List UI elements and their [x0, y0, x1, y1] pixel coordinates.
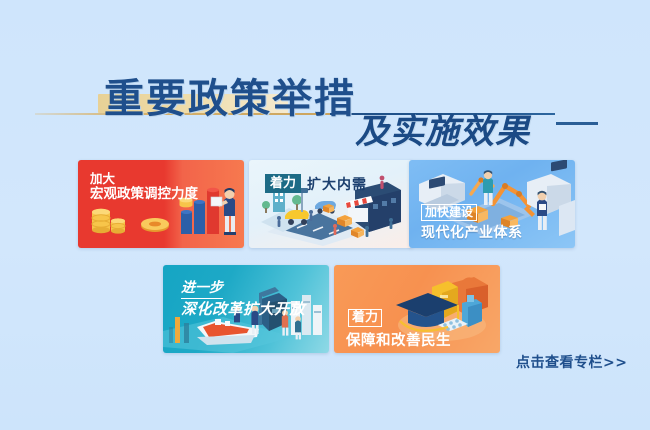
page-title: 重要政策举措 及实施效果 [0, 58, 650, 148]
card1-caption-line2: 宏观政策调控力度 [90, 186, 198, 202]
title-dash-right [556, 122, 598, 125]
card2-caption-rest: 扩大内需 [307, 174, 367, 194]
card5-caption-line2: 保障和改善民生 [346, 329, 451, 350]
card4-caption-line1: 进一步 [181, 277, 223, 299]
card3-caption-line2: 现代化产业体系 [421, 222, 523, 242]
card-modern-industry[interactable]: 加快建设 现代化产业体系 [409, 160, 575, 248]
title-line-1: 重要政策举措 [104, 66, 356, 124]
card-macro-policy[interactable]: 加大 宏观政策调控力度 [78, 160, 244, 248]
banner-root: 重要政策举措 及实施效果 [0, 0, 650, 430]
card2-caption-tag: 着力 [265, 174, 301, 193]
card1-caption: 加大 宏观政策调控力度 [90, 172, 198, 203]
card4-caption-line2: 深化改革扩大开放 [181, 298, 305, 319]
card3-caption-line1: 加快建设 [421, 204, 477, 221]
card-expand-demand[interactable]: 着力 扩大内需 [249, 160, 413, 248]
card-reform-opening[interactable]: 进一步 深化改革扩大开放 [163, 265, 329, 353]
card5-caption-tag: 着力 [348, 309, 382, 327]
card-livelihood[interactable]: 着力 保障和改善民生 [334, 265, 500, 353]
view-column-link[interactable]: 点击查看专栏>> [516, 352, 627, 372]
title-line-2: 及实施效果 [355, 104, 530, 153]
card1-caption-line1: 加大 [90, 171, 115, 186]
